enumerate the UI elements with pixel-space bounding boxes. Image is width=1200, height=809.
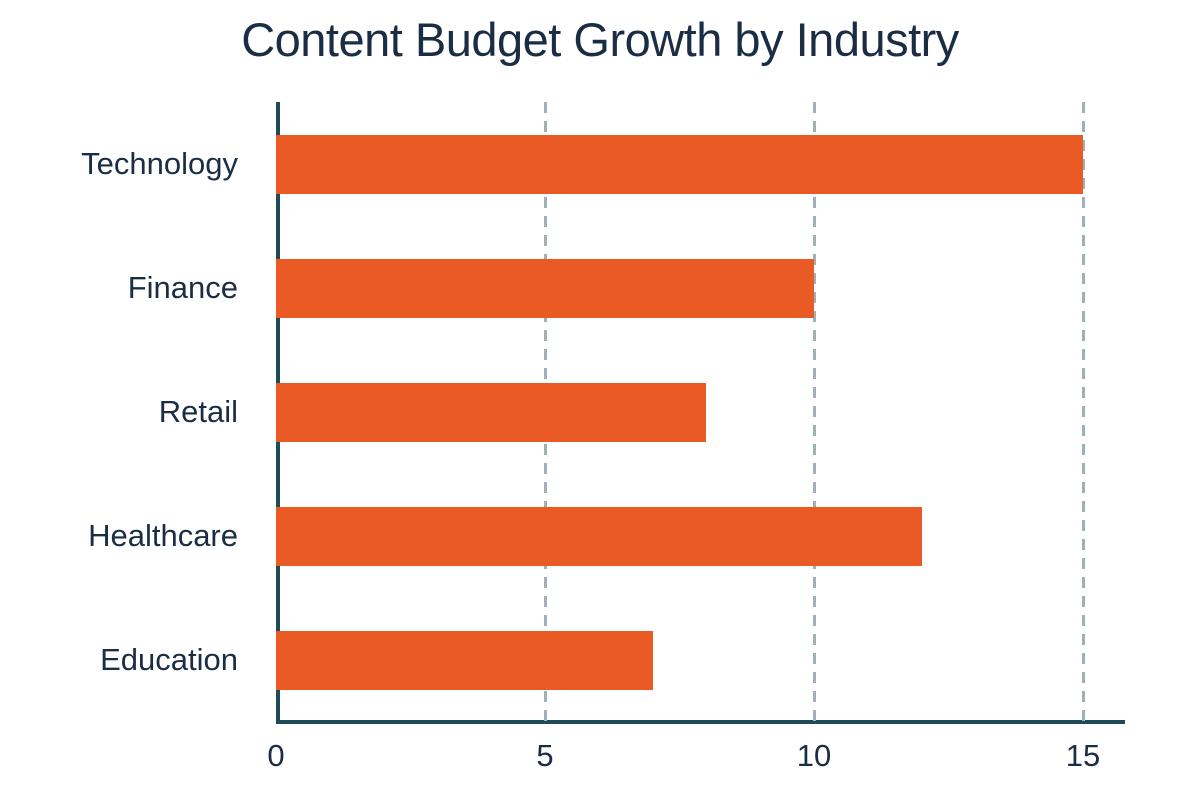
plot-area [276, 102, 1125, 722]
y-axis-tick-label: Finance [0, 270, 238, 306]
bar[interactable] [276, 259, 814, 318]
bar[interactable] [276, 631, 653, 690]
bar[interactable] [276, 507, 922, 566]
gridline [813, 102, 816, 722]
chart-page: Content Budget Growth by Industry Techno… [0, 0, 1200, 809]
x-axis-tick-label: 10 [797, 738, 831, 774]
y-axis-tick-label: Healthcare [0, 518, 238, 554]
y-axis-tick-label: Technology [0, 146, 238, 182]
x-axis-tick-label: 5 [536, 738, 553, 774]
y-axis-tick-label: Education [0, 642, 238, 678]
gridline [1082, 102, 1085, 722]
x-axis-tick-label: 15 [1066, 738, 1100, 774]
y-axis-tick-label: Retail [0, 394, 238, 430]
bar[interactable] [276, 135, 1083, 194]
chart-title: Content Budget Growth by Industry [0, 12, 1200, 67]
x-axis-tick-label: 0 [267, 738, 284, 774]
bar[interactable] [276, 383, 706, 442]
